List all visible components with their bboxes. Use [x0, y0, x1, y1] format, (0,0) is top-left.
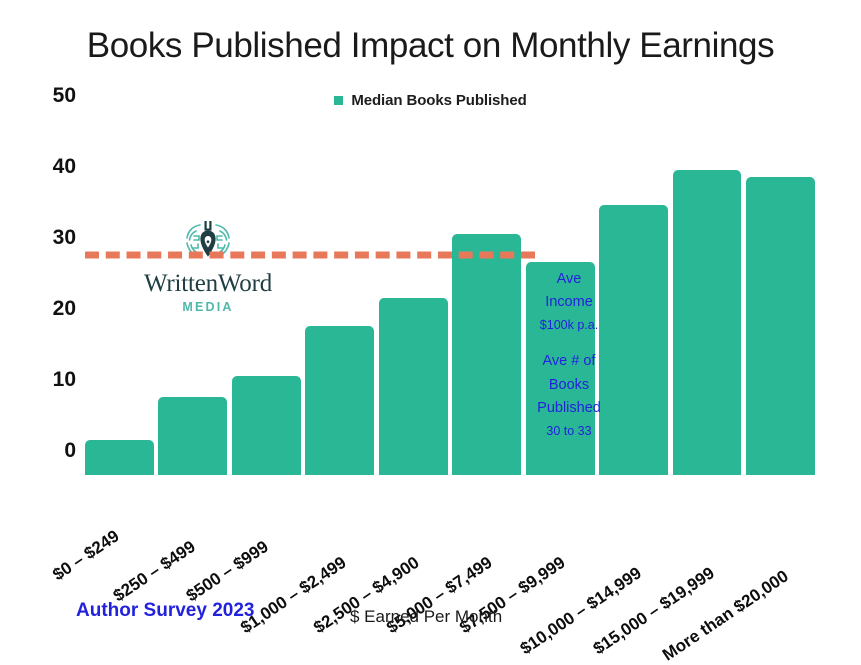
bar[interactable] [158, 397, 227, 475]
y-axis-tick: 50 [53, 84, 76, 108]
y-axis-tick: 40 [53, 155, 76, 179]
chart-title: Books Published Impact on Monthly Earnin… [0, 26, 861, 66]
bar-slot [158, 120, 227, 475]
bar[interactable] [526, 262, 595, 475]
bar-slot [232, 120, 301, 475]
y-axis-tick: 30 [53, 226, 76, 250]
bar[interactable] [85, 440, 154, 476]
y-axis-tick: 20 [53, 297, 76, 321]
bar[interactable] [746, 177, 815, 475]
reference-line-30 [85, 252, 535, 259]
x-axis-label-slot: More than $20,000 [742, 478, 815, 588]
plot-area: 50403020100 [85, 120, 815, 475]
chart-legend: Median Books Published [0, 92, 861, 109]
x-axis-title: $ Earned Per Month [350, 607, 502, 627]
bar[interactable] [379, 298, 448, 476]
bar-slot [85, 120, 154, 475]
x-axis-label-slot: $15,000 – $19,999 [669, 478, 742, 588]
bar-slot [673, 120, 742, 475]
bar-slot [305, 120, 374, 475]
x-axis-label-slot: $7,500 – $9,999 [523, 478, 596, 588]
bar[interactable] [673, 170, 742, 475]
x-axis-label-slot: $1,000 – $2,499 [304, 478, 377, 588]
y-axis-tick: 10 [53, 368, 76, 392]
bar-group [85, 120, 815, 475]
x-axis-labels: $0 – $249$250 – $499$500 – $999$1,000 – … [85, 478, 815, 598]
bar-slot [452, 120, 521, 475]
bar[interactable] [452, 234, 521, 475]
bar-slot [526, 120, 595, 475]
bar[interactable] [305, 326, 374, 475]
bar[interactable] [599, 205, 668, 475]
y-axis-tick: 0 [64, 439, 76, 463]
x-axis-label-slot: $2,500 – $4,900 [377, 478, 450, 588]
bar-slot [599, 120, 668, 475]
chart-container: Books Published Impact on Monthly Earnin… [0, 0, 861, 644]
bar-slot [746, 120, 815, 475]
bar[interactable] [232, 376, 301, 475]
x-axis-label-slot: $10,000 – $14,999 [596, 478, 669, 588]
survey-source-note: Author Survey 2023 [76, 600, 254, 622]
x-axis-label-slot: $5,000 – $7,499 [450, 478, 523, 588]
x-axis-label-slot: $500 – $999 [231, 478, 304, 588]
legend-swatch-icon [334, 96, 343, 105]
legend-label: Median Books Published [351, 92, 526, 109]
bar-slot [379, 120, 448, 475]
